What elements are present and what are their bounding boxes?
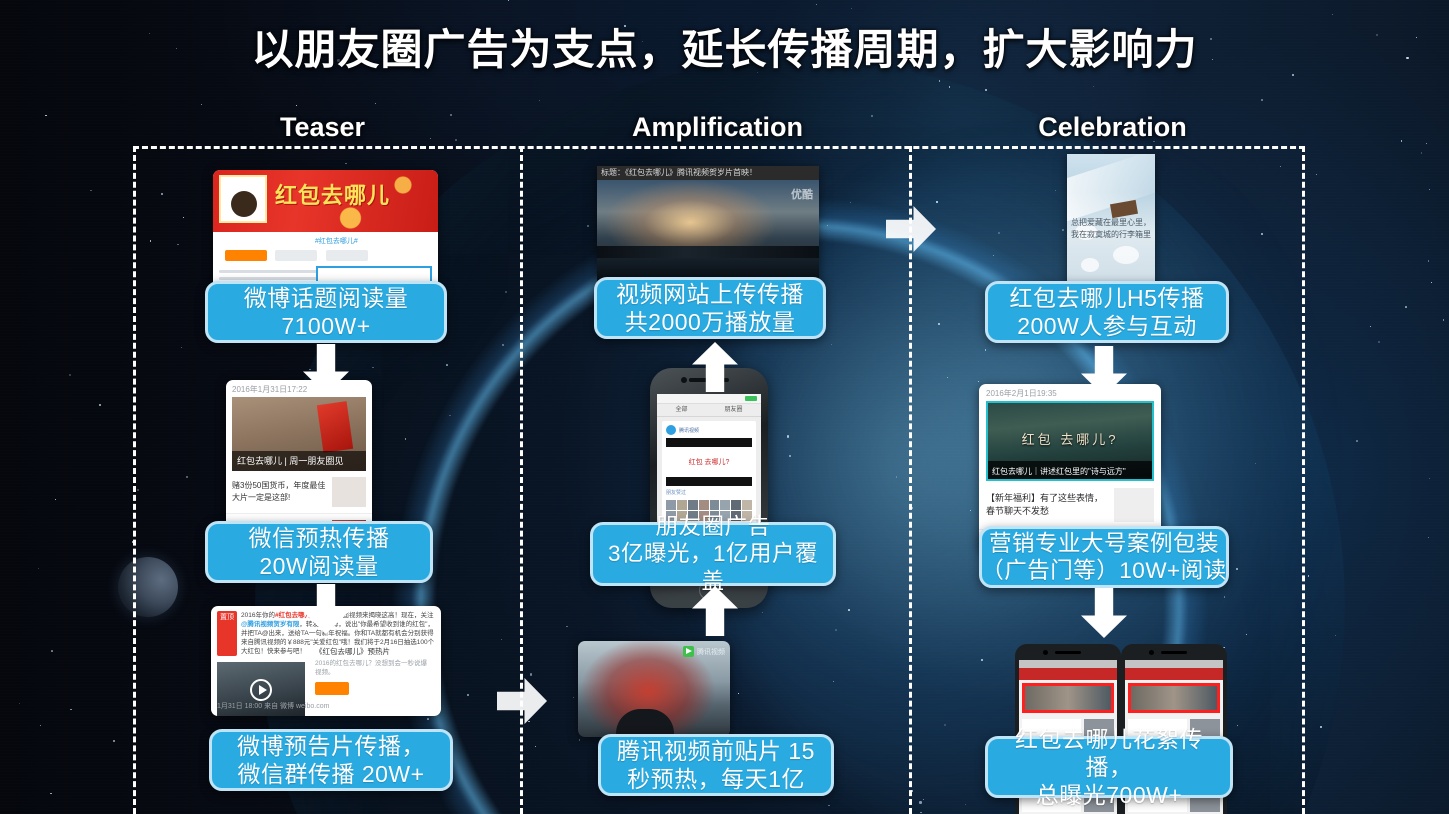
wechat-list-item-1: 【新年福利】有了这些表情，春节聊天不发愁 (986, 492, 1108, 518)
callout-line-2: （广告门等）10W+阅读 (981, 558, 1226, 583)
weibo-post-video-meta: 《红包去哪儿》预热片 2016的红包去哪儿？没想到会一秒说爆视频。 (315, 646, 433, 700)
avatar (677, 500, 687, 510)
news-nav-bar (1125, 668, 1223, 680)
weibo-avatar (219, 175, 267, 223)
camera-icon (681, 377, 687, 383)
media-youku-player: 标题：《红包去哪儿》腾讯视频贺岁片首映！ 优酷 (597, 166, 819, 286)
youku-title-bar: 标题：《红包去哪儿》腾讯视频贺岁片首映！ (597, 166, 819, 180)
preroll-video-frame[interactable]: 腾讯视频 (578, 641, 730, 737)
star-icon (1421, 152, 1422, 153)
star-icon (38, 568, 39, 569)
star-icon (1261, 99, 1263, 101)
moments-nav-bar: 全部 朋友圈 (657, 404, 761, 417)
star-icon (1356, 440, 1358, 442)
wechat-article-thumb (332, 477, 366, 507)
callout-preroll: 腾讯视频前贴片 15 秒预热，每天1亿 (598, 734, 834, 796)
wechat-list-hero: 红包 去哪儿? 红包去哪儿｜讲述红包里的"诗与远方" (986, 401, 1154, 481)
moments-ad-text: 红包 去哪儿? (666, 450, 752, 474)
avatar (688, 500, 698, 510)
callout-line-1: 视频网站上传传播 (616, 281, 804, 307)
star-icon (55, 499, 56, 500)
avatar (720, 500, 730, 510)
avatar (699, 500, 709, 510)
highlighted-article[interactable] (1128, 683, 1220, 713)
star-icon (1431, 282, 1432, 283)
speaker-icon (1055, 651, 1081, 654)
weibo-banner: 红包去哪儿 (213, 170, 438, 232)
youku-video-frame[interactable]: 优酷 (597, 180, 819, 286)
youku-logo: 优酷 (791, 186, 813, 202)
arrow-down-icon (1081, 588, 1127, 638)
star-icon (539, 100, 540, 101)
star-icon (1378, 341, 1379, 342)
star-icon (1405, 306, 1407, 308)
wechat-article-row: 赌3份50国货币，年度最佳大片一定是这部! (226, 471, 372, 514)
callout-bloopers: 红包去哪儿花絮传播， 总曝光700W+ (985, 736, 1233, 798)
phase-header-teaser: Teaser (185, 112, 460, 143)
star-icon (1428, 537, 1429, 538)
avatar (710, 500, 720, 510)
callout-line-2: 200W人参与互动 (1017, 313, 1197, 339)
callout-line-1: 朋友圈广告 (655, 514, 770, 539)
wechat-article-hero: 红包去哪儿 | 周一朋友圈见 (232, 397, 366, 471)
wechat-hero-title: 红包 去哪儿? (988, 429, 1152, 448)
callout-line-1: 腾讯视频前贴片 15 (617, 738, 815, 764)
callout-line-2: 20W阅读量 (259, 553, 378, 579)
callout-moments-ad: 朋友圈广告 3亿曝光，1亿用户覆盖 (590, 522, 836, 586)
wechat-article-headline-bar: 红包去哪儿 | 周一朋友圈见 (232, 451, 366, 471)
weibo-chip-primary (225, 250, 267, 261)
media-wechat-article-card: 2016年1月31日17:22 红包去哪儿 | 周一朋友圈见 赌3份50国货币，… (226, 380, 372, 528)
weibo-post-tag: 置顶 (217, 611, 237, 656)
callout-line-1: 红包去哪儿H5传播 (1010, 285, 1205, 311)
media-tencent-preroll: 腾讯视频 (578, 641, 730, 737)
status-bar (1125, 660, 1223, 668)
highlighted-article[interactable] (1022, 683, 1114, 713)
callout-line-2: 微信群传播 20W+ (237, 761, 424, 787)
ad-bar (666, 438, 752, 447)
wechat-hero-caption: 红包去哪儿｜讲述红包里的"诗与远方" (988, 467, 1126, 476)
star-icon (70, 709, 71, 710)
star-icon (1335, 635, 1336, 636)
wechat-list-row: 【新年福利】有了这些表情，春节聊天不发愁 (979, 481, 1161, 530)
tencent-video-logo-text: 腾讯视频 (697, 647, 725, 657)
tencent-video-logo: 腾讯视频 (683, 646, 725, 657)
advertiser-name: 腾讯视频 (679, 427, 699, 434)
callout-line-1: 营销专业大号案例包装 (989, 531, 1219, 556)
page-title: 以朋友圈广告为支点，延长传播周期，扩大影响力 (0, 16, 1449, 77)
callout-line-2: 3亿曝光，1亿用户覆盖 (608, 541, 818, 593)
news-nav-bar (1019, 668, 1117, 680)
callout-kol-coverage: 营销专业大号案例包装 （广告门等）10W+阅读 (979, 526, 1229, 588)
weibo-banner-title: 红包去哪儿 (275, 178, 390, 210)
star-icon (1426, 143, 1427, 144)
callout-line-2: 7100W+ (281, 313, 370, 339)
callout-line-1: 红包去哪儿花絮传播， (1015, 726, 1203, 780)
camera-icon (1149, 650, 1154, 655)
column-teaser: 红包去哪儿 #红包去哪儿# 2016年1月31日17:22 (133, 146, 521, 814)
wechat-article-date: 2016年1月31日17:22 (226, 380, 372, 397)
column-celebration: 总把爱藏在最里心里， 我在寂寞城的行李箱里 2016年2月1日19:35 红包 … (911, 146, 1299, 814)
star-icon (508, 0, 509, 1)
callout-line-2: 总曝光700W+ (1036, 782, 1183, 808)
wechat-hero-caption-bar: 红包去哪儿｜讲述红包里的"诗与远方" (988, 461, 1152, 479)
weibo-chips (219, 248, 432, 266)
star-icon (871, 115, 873, 117)
status-bar (1019, 660, 1117, 668)
callout-h5: 红包去哪儿H5传播 200W人参与互动 (985, 281, 1229, 343)
avatar (666, 500, 676, 510)
wechat-article-headline: 红包去哪儿 | 周一朋友圈见 (232, 456, 343, 466)
callout-line-1: 微博预告片传播， (237, 733, 425, 759)
wechat-article-item-1: 赌3份50国货币，年度最佳大片一定是这部! (232, 480, 326, 504)
avatar (742, 500, 752, 510)
callout-line-2: 秒预热，每天1亿 (627, 766, 805, 792)
avatar (731, 500, 741, 510)
status-bar (657, 394, 761, 404)
callout-video-sites: 视频网站上传传播 共2000万播放量 (594, 277, 826, 339)
star-icon (851, 8, 852, 9)
star-icon (201, 104, 202, 105)
nav-tab-moments[interactable]: 朋友圈 (724, 404, 742, 416)
ad-likes-label: 朋友赞过 (666, 489, 752, 496)
slide-canvas: 以朋友圈广告为支点，延长传播周期，扩大影响力 Teaser Amplificat… (0, 0, 1449, 814)
weibo-video-play-button[interactable] (315, 682, 349, 695)
h5-caption: 总把爱藏在最里心里， 我在寂寞城的行李箱里 (1067, 217, 1155, 241)
wechat-list-date: 2016年2月1日19:35 (979, 384, 1161, 401)
advertiser-avatar (666, 425, 676, 435)
media-weibo-topic-page: 红包去哪儿 #红包去哪儿# (213, 170, 438, 288)
star-icon (1093, 86, 1094, 87)
callout-weibo-topic: 微博话题阅读量 7100W+ (205, 281, 447, 343)
star-icon (296, 105, 297, 106)
star-icon (1370, 326, 1371, 327)
weibo-video-title: 《红包去哪儿》预热片 (315, 646, 433, 657)
callout-weibo-trailer: 微博预告片传播， 微信群传播 20W+ (209, 729, 453, 791)
media-h5-poster: 总把爱藏在最里心里， 我在寂寞城的行李箱里 (1067, 154, 1155, 292)
wechat-list-thumb (1114, 488, 1154, 522)
callout-line-1: 微博话题阅读量 (244, 285, 409, 311)
star-icon (816, 4, 817, 5)
star-icon (985, 89, 987, 91)
h5-suitcase (1110, 200, 1138, 218)
phase-header-amplification: Amplification (580, 112, 855, 143)
weibo-chip-1 (275, 250, 317, 261)
weibo-search-value: #红包去哪儿# (219, 236, 432, 246)
nav-tab-all[interactable]: 全部 (675, 404, 687, 416)
camera-icon (1043, 650, 1048, 655)
phase-header-celebration: Celebration (975, 112, 1250, 143)
speaker-icon (1161, 651, 1187, 654)
callout-line-2: 共2000万播放量 (625, 309, 796, 335)
star-icon (69, 374, 71, 376)
weibo-chip-2 (326, 250, 368, 261)
column-amplification: 标题：《红包去哪儿》腾讯视频贺岁片首映！ 优酷 全部 朋友圈 (522, 146, 910, 814)
callout-wechat-warmup: 微信预热传播 20W阅读量 (205, 521, 433, 583)
ad-bar (666, 477, 752, 486)
weibo-post-footer: 1月31日 18:00 来自 微博 weibo.com (211, 698, 335, 714)
callout-line-1: 微信预热传播 (249, 525, 390, 551)
play-badge-icon (683, 646, 694, 657)
weibo-video-sub: 2016的红包去哪儿？没想到会一秒说爆视频。 (315, 659, 433, 677)
